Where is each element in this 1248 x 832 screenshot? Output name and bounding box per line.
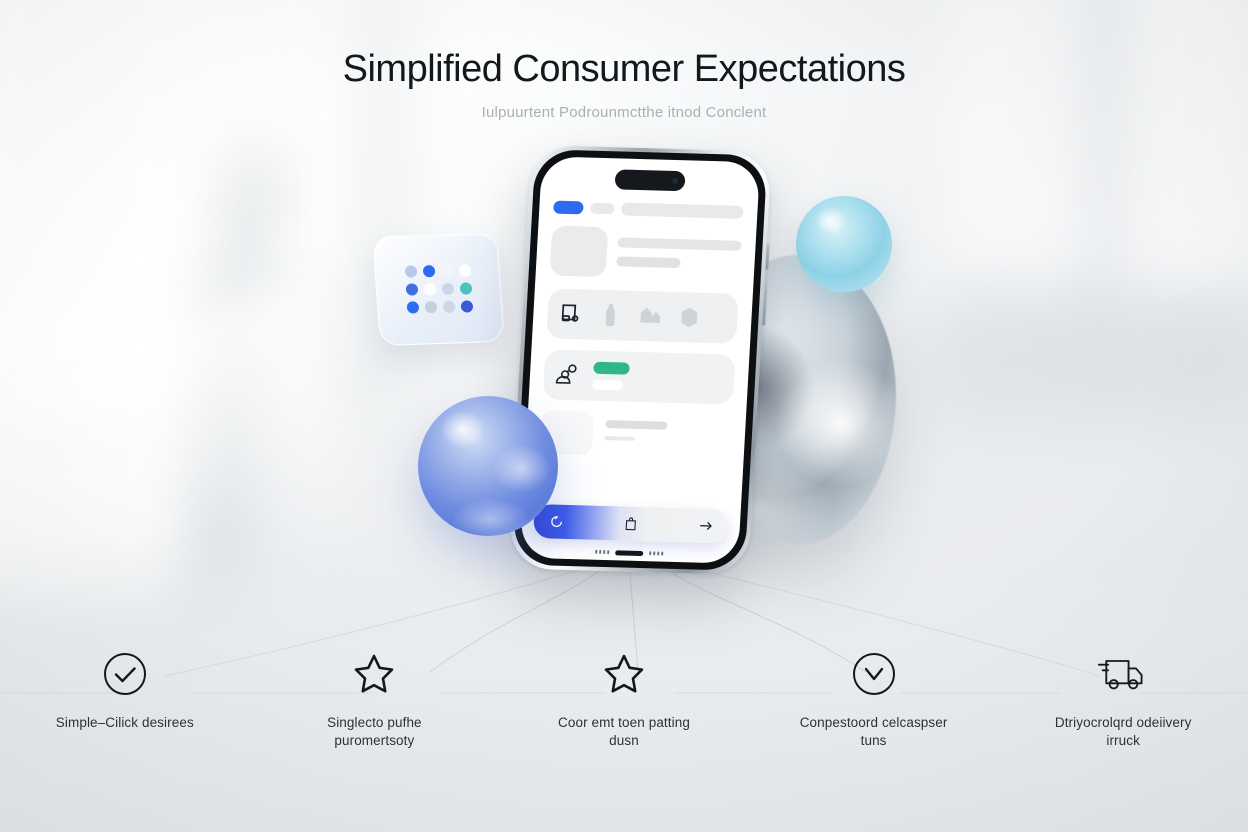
grid-dot-5 (423, 283, 436, 295)
grid-dot-10 (442, 301, 455, 313)
grid-dot-3 (458, 264, 471, 276)
phone-frame (508, 145, 772, 575)
delivery-person-icon[interactable] (553, 362, 580, 389)
speaker-and-port (574, 547, 684, 558)
active-tab-pill[interactable] (553, 201, 584, 215)
text-placeholder-line (616, 256, 681, 268)
feature-label: Dtriyocrolqrd odeiivery irruck (1048, 714, 1198, 750)
bottle-icon (597, 302, 624, 329)
status-badges (592, 362, 630, 391)
smartphone-mockup[interactable] (508, 145, 772, 575)
text-lines (604, 412, 668, 442)
star-icon[interactable] (348, 648, 400, 700)
grid-dot-0 (404, 265, 417, 277)
shopping-bag-icon[interactable] (622, 516, 639, 532)
delivery-truck-icon[interactable] (1097, 648, 1149, 700)
grid-dot-1 (422, 265, 435, 277)
speaker-grill-right (649, 551, 663, 555)
grid-dot-4 (405, 283, 418, 295)
secondary-product-row[interactable] (540, 410, 732, 459)
text-placeholder-line (617, 237, 742, 250)
grid-dot-7 (459, 282, 472, 294)
grid-dot-9 (424, 301, 437, 313)
aqua-sphere (796, 196, 892, 292)
product-thumbnail[interactable] (550, 226, 609, 277)
speaker-grill-left (595, 550, 609, 554)
hero-text-lines (616, 227, 743, 280)
app-content (525, 156, 760, 470)
tab-pill[interactable] (590, 203, 615, 215)
package-icon (677, 304, 704, 331)
hero-scene: Simplified Consumer Expectations Iulpuur… (0, 0, 1248, 832)
text-placeholder-line (605, 420, 667, 430)
box-stack-icon (637, 303, 664, 330)
feature-label: Simple–Cilick desirees (56, 714, 194, 732)
charging-port (615, 550, 643, 556)
feature-item-0[interactable]: Simple–Cilick desirees (0, 648, 250, 750)
back-arrow-icon[interactable] (547, 513, 564, 529)
phone-bezel (512, 149, 767, 571)
top-tab-row[interactable] (553, 201, 744, 219)
grid-dot-6 (441, 283, 454, 295)
status-badge (593, 362, 630, 375)
delivery-status-card[interactable] (543, 349, 736, 404)
text-placeholder-line (604, 436, 634, 441)
chevron-down-circle-icon[interactable] (848, 648, 900, 700)
header: Simplified Consumer Expectations Iulpuur… (0, 48, 1248, 121)
star-icon[interactable] (598, 648, 650, 700)
check-circle-icon[interactable] (99, 648, 151, 700)
phone-screen[interactable] (520, 156, 760, 563)
feature-item-3[interactable]: Conpestoord celcaspser tuns (749, 648, 999, 750)
grid-dot-11 (460, 300, 473, 312)
feature-item-1[interactable]: Singlecto pufhe puromertsoty (250, 648, 500, 750)
grid-dot-2 (440, 265, 453, 277)
feature-item-4[interactable]: Dtriyocrolqrd odeiivery irruck (998, 648, 1248, 750)
grid-dot-8 (406, 301, 419, 313)
dot-grid (404, 264, 473, 313)
blue-sphere (418, 396, 558, 536)
page-title: Simplified Consumer Expectations (0, 48, 1248, 92)
dot-grid-card[interactable] (372, 232, 505, 346)
feature-label: Coor emt toen patting dusn (549, 714, 699, 750)
feature-item-2[interactable]: Coor emt toen patting dusn (499, 648, 749, 750)
dynamic-island (614, 169, 685, 191)
arrow-right-icon[interactable] (697, 518, 714, 534)
page-subtitle: Iulpuurtent Podrounmctthe itnod Conclent (0, 104, 1248, 121)
search-pill[interactable] (621, 202, 744, 218)
shopping-bag-icon[interactable] (557, 301, 584, 328)
feature-row: Simple–Cilick desirees Singlecto pufhe p… (0, 648, 1248, 750)
feature-label: Singlecto pufhe puromertsoty (299, 714, 449, 750)
feature-label: Conpestoord celcaspser tuns (799, 714, 949, 750)
sub-badge (592, 380, 623, 391)
product-icon-card[interactable] (546, 288, 739, 343)
bottom-nav-bar[interactable] (533, 504, 729, 543)
hero-row (550, 226, 743, 281)
